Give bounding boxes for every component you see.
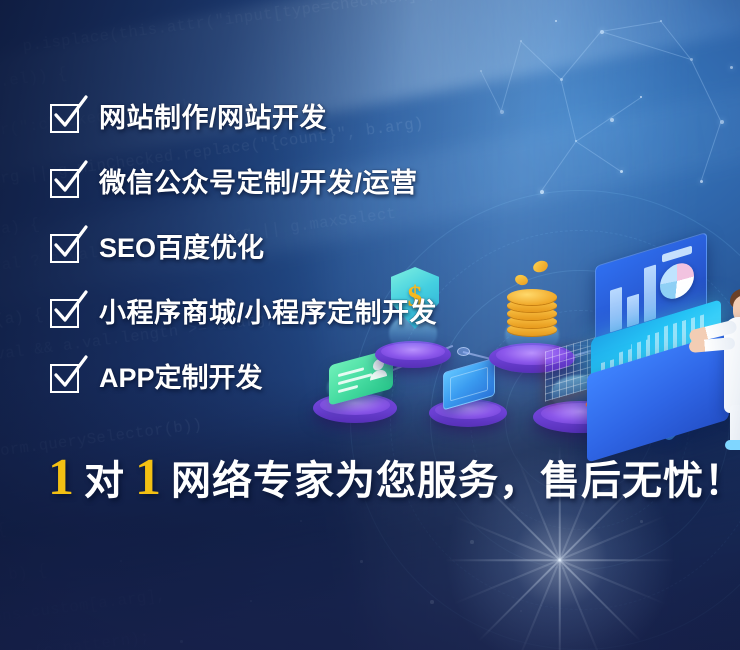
feature-item-website[interactable]: 网站制作/网站开发	[50, 100, 437, 136]
feature-label: 小程序商城/小程序定制开发	[99, 300, 437, 327]
headline-number-first: 1	[48, 452, 74, 504]
promo-banner: p.isplace(this.attr("input[type=checkbox…	[0, 0, 740, 650]
feature-label: 网站制作/网站开发	[99, 105, 327, 132]
feature-item-miniprogram[interactable]: 小程序商城/小程序定制开发	[50, 295, 437, 331]
checkbox-checked-icon	[50, 299, 79, 328]
checkbox-checked-icon	[50, 169, 79, 198]
headline-word-dui: 对	[84, 461, 125, 501]
headline-slogan: 1 对 1 网络专家为您服务，售后无忧！	[48, 452, 740, 504]
feature-item-app[interactable]: APP定制开发	[50, 360, 437, 396]
checkbox-checked-icon	[50, 234, 79, 263]
feature-label: APP定制开发	[99, 365, 263, 392]
feature-label: SEO百度优化	[99, 235, 264, 262]
headline-tail-text: 网络专家为您服务，售后无忧！	[171, 461, 740, 501]
checkbox-checked-icon	[50, 104, 79, 133]
feature-list: 网站制作/网站开发 微信公众号定制/开发/运营 SEO百度优化	[50, 100, 437, 425]
feature-label: 微信公众号定制/开发/运营	[99, 170, 418, 197]
checkbox-checked-icon	[50, 364, 79, 393]
feature-item-wechat[interactable]: 微信公众号定制/开发/运营	[50, 165, 437, 201]
headline-number-second: 1	[135, 452, 161, 504]
feature-item-seo[interactable]: SEO百度优化	[50, 230, 437, 266]
